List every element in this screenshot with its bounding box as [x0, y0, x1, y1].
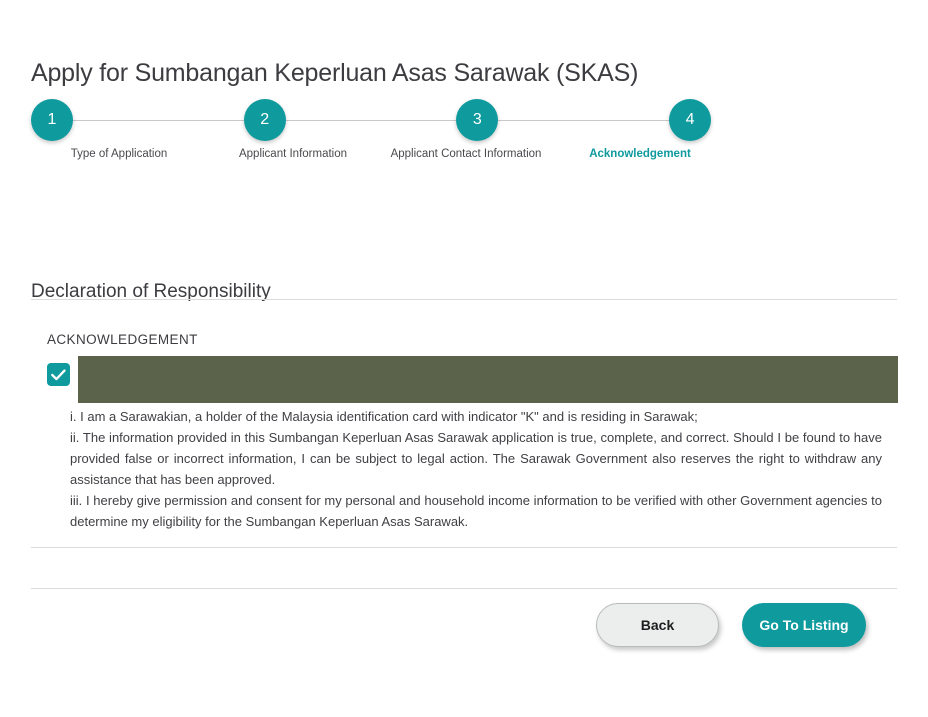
- section-divider: [31, 299, 897, 300]
- stepper-label-2: Applicant Information: [239, 148, 347, 160]
- go-to-listing-button[interactable]: Go To Listing: [742, 603, 866, 647]
- form-actions: Back Go To Listing: [31, 603, 897, 649]
- step-circle-1[interactable]: 1: [31, 99, 73, 141]
- stepper-step-2[interactable]: 2: [244, 99, 286, 141]
- declaration-clause-iii: iii. I hereby give permission and consen…: [70, 490, 882, 532]
- page-title: Apply for Sumbangan Keperluan Asas Saraw…: [31, 59, 638, 88]
- step-circle-2[interactable]: 2: [244, 99, 286, 141]
- footer-divider-bottom: [31, 588, 897, 589]
- step-number-1: 1: [48, 111, 57, 129]
- step-circle-4[interactable]: 4: [669, 99, 711, 141]
- acknowledgement-field-label: ACKNOWLEDGEMENT: [47, 332, 198, 347]
- checkmark-icon: [51, 369, 66, 381]
- acknowledgement-checkbox[interactable]: [47, 363, 70, 386]
- stepper-step-4[interactable]: 4: [669, 99, 711, 141]
- stepper-connector-2-3: [286, 120, 457, 121]
- back-button[interactable]: Back: [596, 603, 719, 647]
- stepper-track: 1 2 3 4: [31, 98, 711, 142]
- footer-divider-top: [31, 547, 897, 548]
- stepper-label-1: Type of Application: [71, 148, 168, 160]
- stepper-step-3[interactable]: 3: [456, 99, 498, 141]
- declaration-clause-ii: ii. The information provided in this Sum…: [70, 427, 882, 490]
- step-number-4: 4: [686, 111, 695, 129]
- redacted-acknowledgement-banner: [78, 356, 898, 403]
- stepper-connector-1-2: [73, 120, 244, 121]
- stepper-connector-3-4: [498, 120, 669, 121]
- stepper-label-4: Acknowledgement: [589, 148, 691, 160]
- stepper-step-1[interactable]: 1: [31, 99, 73, 141]
- step-circle-3[interactable]: 3: [456, 99, 498, 141]
- stepper-labels: Type of Application Applicant Informatio…: [31, 148, 711, 170]
- declaration-text: i. I am a Sarawakian, a holder of the Ma…: [70, 406, 882, 532]
- progress-stepper: 1 2 3 4 Type of Application Applicant In…: [31, 98, 711, 173]
- step-number-3: 3: [473, 111, 482, 129]
- stepper-label-3: Applicant Contact Information: [391, 148, 542, 160]
- acknowledgement-row: [47, 356, 898, 403]
- step-number-2: 2: [260, 111, 269, 129]
- declaration-clause-i: i. I am a Sarawakian, a holder of the Ma…: [70, 406, 882, 427]
